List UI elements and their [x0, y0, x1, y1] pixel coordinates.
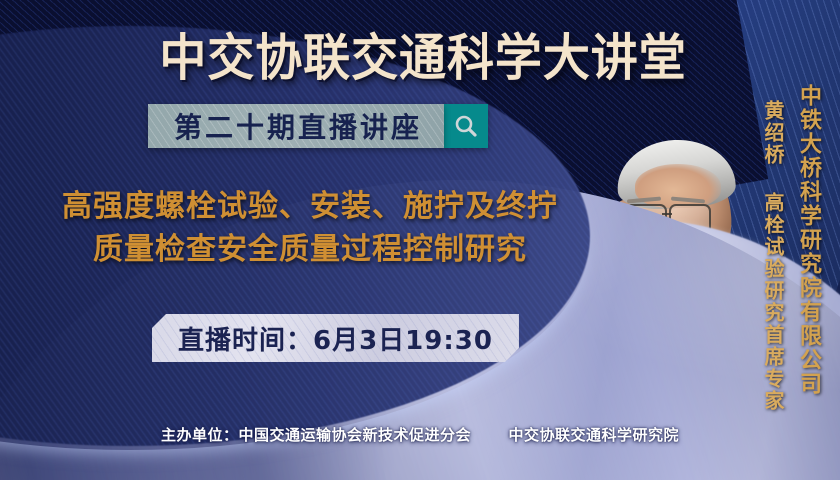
- poster-canvas: 中交协联交通科学大讲堂 第二十期直播讲座 高强度螺栓试验、安装、施拧及终拧 质量…: [0, 0, 840, 480]
- page-title: 中交协联交通科学大讲堂: [136, 18, 709, 90]
- lecture-topic-line-2: 质量检查安全质量过程控制研究: [0, 229, 620, 272]
- episode-bar: 第二十期直播讲座: [148, 104, 488, 148]
- episode-label: 第二十期直播讲座: [174, 106, 422, 146]
- speaker-name-title: 黄绍桥 高栓试验研究首席专家: [759, 100, 788, 412]
- footer-organizers: 主办单位：中国交通运输协会新技术促进分会 中交协联交通科学研究院: [0, 424, 840, 445]
- episode-bar-body: 第二十期直播讲座: [148, 104, 444, 148]
- broadcast-time-label: 直播时间：6月3日19:30: [178, 320, 493, 357]
- search-icon[interactable]: [444, 104, 488, 148]
- footer-organizer-primary: 主办单位：中国交通运输协会新技术促进分会: [161, 426, 471, 444]
- lecture-topic: 高强度螺栓试验、安装、施拧及终拧 质量检查安全质量过程控制研究: [0, 186, 620, 271]
- lecture-topic-line-1: 高强度螺栓试验、安装、施拧及终拧: [62, 189, 558, 224]
- broadcast-time-badge: 直播时间：6月3日19:30: [152, 314, 519, 362]
- speaker-organization: 中铁大桥科学研究院有限公司: [792, 84, 824, 396]
- footer-organizer-secondary: 中交协联交通科学研究院: [508, 426, 679, 444]
